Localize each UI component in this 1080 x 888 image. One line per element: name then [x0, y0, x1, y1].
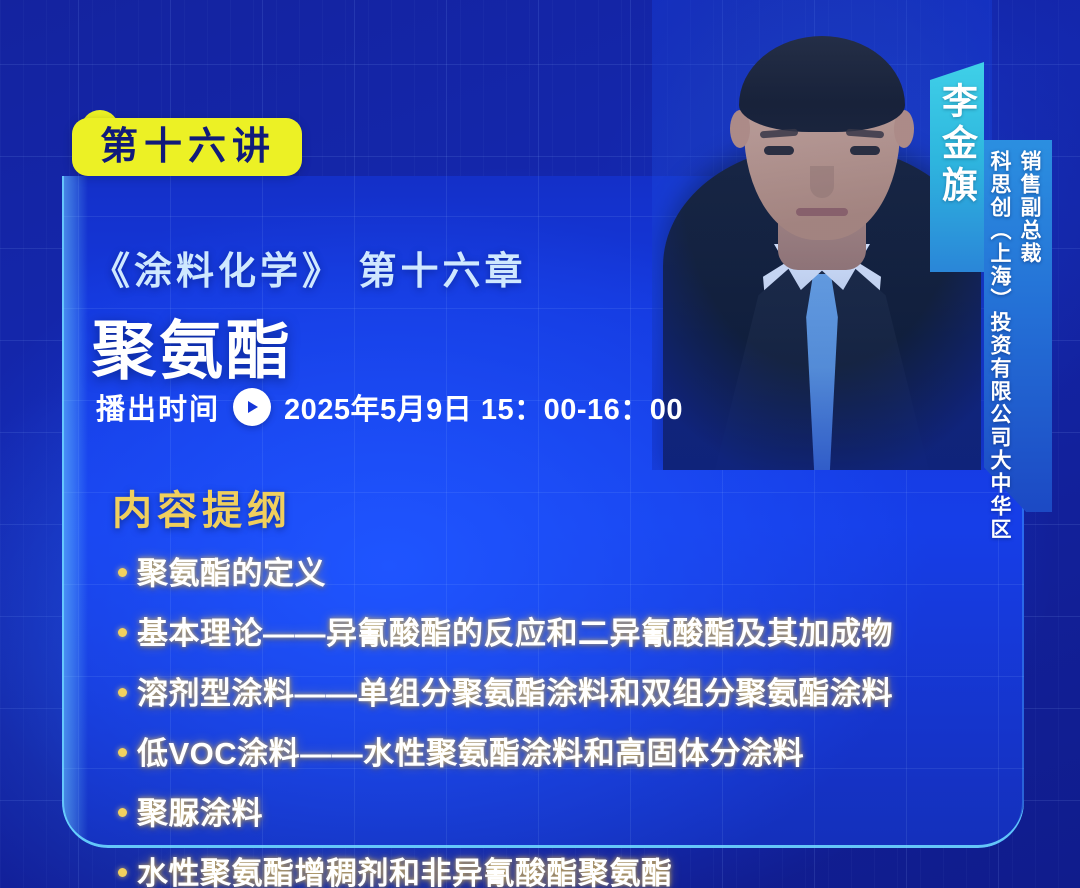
outline-item: 基本理论——异氰酸酯的反应和二异氰酸酯及其加成物	[118, 612, 893, 656]
outline-heading: 内容提纲	[112, 478, 292, 536]
outline-item: 低VOC涂料——水性聚氨酯涂料和高固体分涂料	[118, 732, 893, 776]
speaker-name-banner: 李金旗	[930, 62, 984, 272]
outline-item: 水性聚氨酯增稠剂和非异氰酸酯聚氨酯	[118, 852, 893, 888]
lecture-badge: 第十六讲	[72, 118, 302, 176]
bullet-dot-icon	[118, 568, 127, 577]
bullet-dot-icon	[118, 748, 127, 757]
airtime-value: 2025年5月9日 15：00-16：00	[284, 386, 683, 428]
airtime-label: 播出时间	[96, 386, 220, 428]
panel-sheen	[62, 176, 88, 848]
portrait-hair	[739, 36, 905, 132]
airtime-row: 播出时间 2025年5月9日 15：00-16：00	[96, 386, 683, 428]
bullet-dot-icon	[118, 628, 127, 637]
outline-item-label: 基本理论——异氰酸酯的反应和二异氰酸酯及其加成物	[137, 612, 893, 656]
outline-item: 聚脲涂料	[118, 792, 893, 836]
portrait-eye-right	[850, 146, 880, 155]
bullet-dot-icon	[118, 688, 127, 697]
speaker-name: 李金旗	[930, 82, 984, 208]
outline-item-label: 低VOC涂料——水性聚氨酯涂料和高固体分涂料	[137, 732, 804, 776]
portrait-mouth	[796, 208, 848, 216]
page-title: 聚氨酯	[92, 300, 293, 392]
portrait-nose	[810, 166, 834, 198]
speaker-company: 科思创（上海）投资有限公司大中华区	[985, 150, 1014, 510]
lecture-badge-label: 第十六讲	[72, 118, 302, 176]
outline-item-label: 溶剂型涂料——单组分聚氨酯涂料和双组分聚氨酯涂料	[137, 672, 893, 716]
portrait-eye-left	[764, 146, 794, 155]
outline-item: 溶剂型涂料——单组分聚氨酯涂料和双组分聚氨酯涂料	[118, 672, 893, 716]
outline-item: 聚氨酯的定义	[118, 552, 893, 596]
outline-list: 聚氨酯的定义基本理论——异氰酸酯的反应和二异氰酸酯及其加成物溶剂型涂料——单组分…	[118, 552, 893, 888]
course-subtitle: 《涂料化学》 第十六章	[92, 240, 527, 295]
bullet-dot-icon	[118, 808, 127, 817]
poster-stage: 李金旗 销售副总裁 科思创（上海）投资有限公司大中华区 第十六讲 《涂料化学》 …	[0, 0, 1080, 888]
outline-item-label: 水性聚氨酯增稠剂和非异氰酸酯聚氨酯	[137, 852, 673, 888]
speaker-role: 销售副总裁	[1015, 150, 1044, 300]
bullet-dot-icon	[118, 868, 127, 877]
outline-item-label: 聚氨酯的定义	[137, 552, 326, 596]
play-circle-icon[interactable]	[233, 388, 271, 426]
outline-item-label: 聚脲涂料	[137, 792, 263, 836]
